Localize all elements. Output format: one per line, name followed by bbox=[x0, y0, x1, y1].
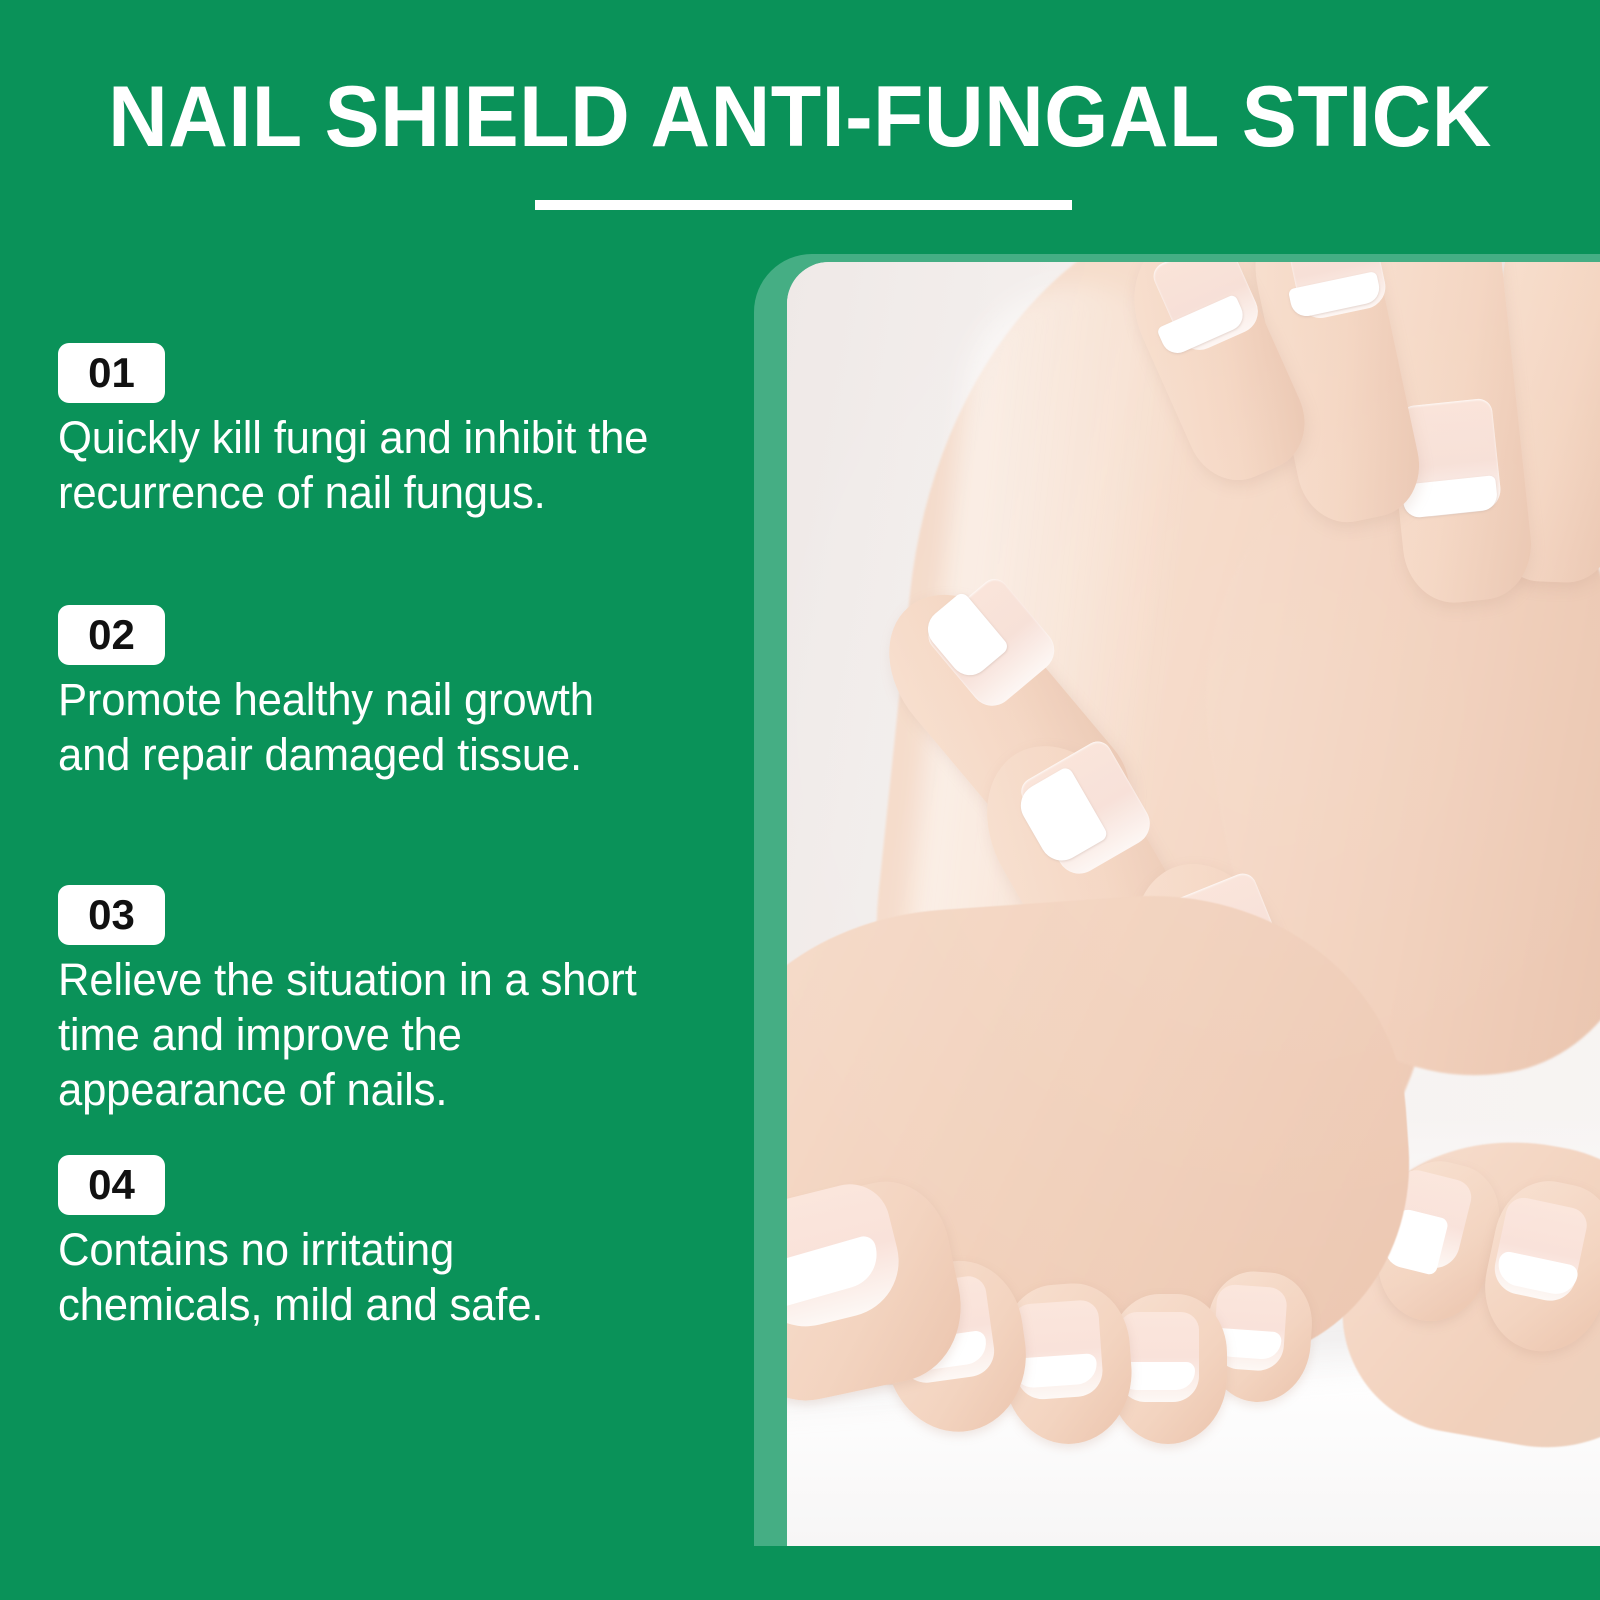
feature-badge-01: 01 bbox=[58, 343, 165, 403]
product-photo bbox=[787, 262, 1600, 1546]
feature-list: 01 Quickly kill fungi and inhibit the re… bbox=[0, 300, 720, 1380]
feature-badge-03: 03 bbox=[58, 885, 165, 945]
product-image-panel bbox=[754, 254, 1600, 1546]
header: NAIL SHIELD ANTI-FUNGAL STICK bbox=[0, 0, 1600, 240]
feature-number-03: 03 bbox=[88, 894, 135, 936]
page-title: NAIL SHIELD ANTI-FUNGAL STICK bbox=[32, 74, 1568, 160]
title-divider bbox=[535, 200, 1072, 210]
feature-item-02: 02 Promote healthy nail growth and repai… bbox=[0, 605, 700, 783]
feature-badge-02: 02 bbox=[58, 605, 165, 665]
feature-badge-04: 04 bbox=[58, 1155, 165, 1215]
feature-text-03: Relieve the situation in a short time an… bbox=[58, 953, 669, 1118]
feature-number-04: 04 bbox=[88, 1164, 135, 1206]
feature-item-04: 04 Contains no irritating chemicals, mil… bbox=[0, 1155, 700, 1333]
feature-number-02: 02 bbox=[88, 614, 135, 656]
feature-item-01: 01 Quickly kill fungi and inhibit the re… bbox=[0, 343, 700, 521]
feature-text-04: Contains no irritating chemicals, mild a… bbox=[58, 1223, 669, 1333]
feature-item-03: 03 Relieve the situation in a short time… bbox=[0, 885, 700, 1118]
feature-text-02: Promote healthy nail growth and repair d… bbox=[58, 673, 669, 783]
feature-text-01: Quickly kill fungi and inhibit the recur… bbox=[58, 411, 669, 521]
feature-number-01: 01 bbox=[88, 352, 135, 394]
